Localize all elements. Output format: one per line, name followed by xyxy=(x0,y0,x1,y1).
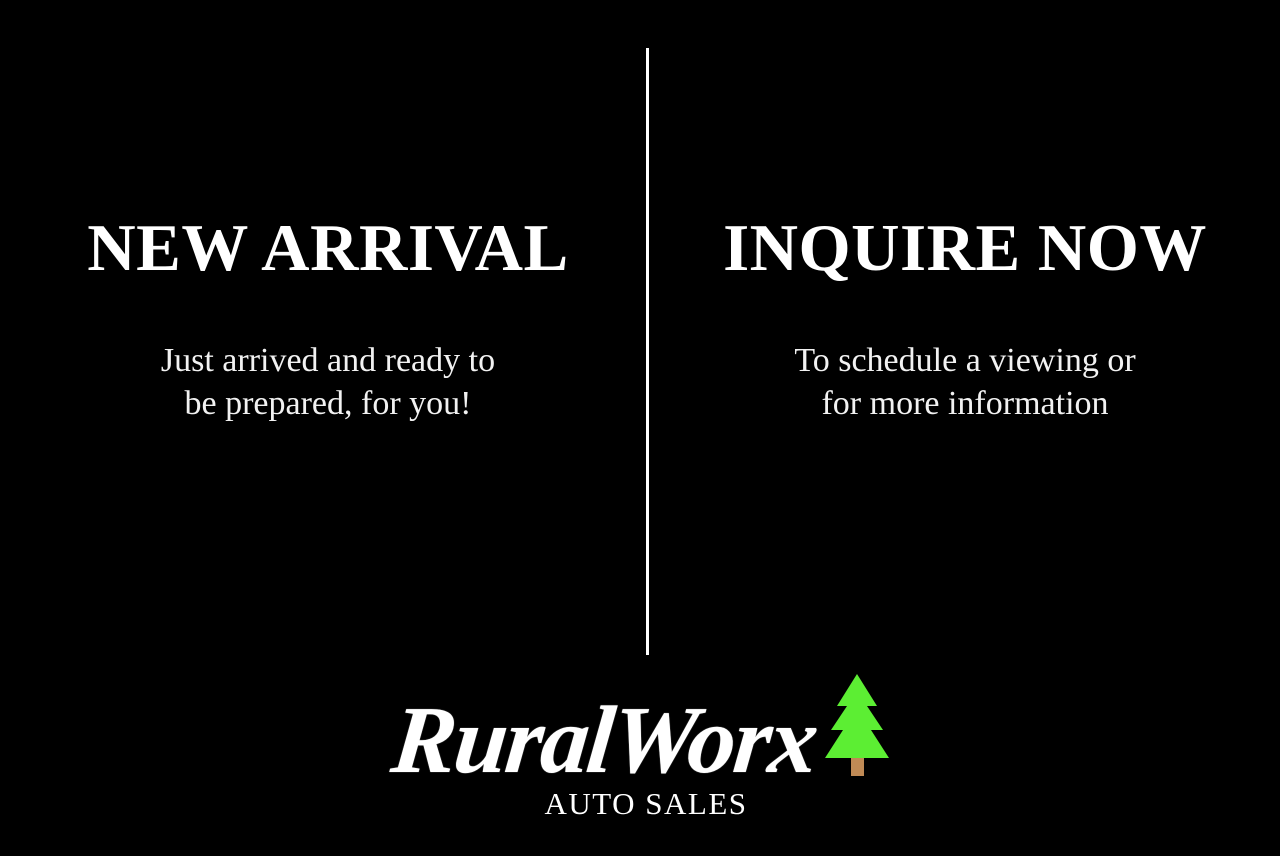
panel-inquire-now: INQUIRE NOW To schedule a viewing or for… xyxy=(685,215,1245,425)
vertical-divider xyxy=(646,48,649,655)
promo-banner: NEW ARRIVAL Just arrived and ready to be… xyxy=(0,0,1280,856)
panel-body-line: Just arrived and ready to xyxy=(48,340,608,383)
panel-body-inquire-now: To schedule a viewing or for more inform… xyxy=(685,282,1245,425)
panel-body-line: To schedule a viewing or xyxy=(685,340,1245,383)
logo-wordmark: RuralWorx xyxy=(387,685,822,795)
panel-body-line: for more information xyxy=(685,383,1245,426)
pine-tree-icon xyxy=(821,672,893,781)
brand-logo: RuralWorx AUTO SALES xyxy=(0,672,1280,821)
panel-heading-inquire-now: INQUIRE NOW xyxy=(685,215,1245,282)
panel-new-arrival: NEW ARRIVAL Just arrived and ready to be… xyxy=(48,215,608,425)
panel-body-new-arrival: Just arrived and ready to be prepared, f… xyxy=(48,282,608,425)
panel-body-line: be prepared, for you! xyxy=(48,383,608,426)
panel-heading-new-arrival: NEW ARRIVAL xyxy=(48,215,608,282)
logo-mark: RuralWorx AUTO SALES xyxy=(387,672,892,821)
